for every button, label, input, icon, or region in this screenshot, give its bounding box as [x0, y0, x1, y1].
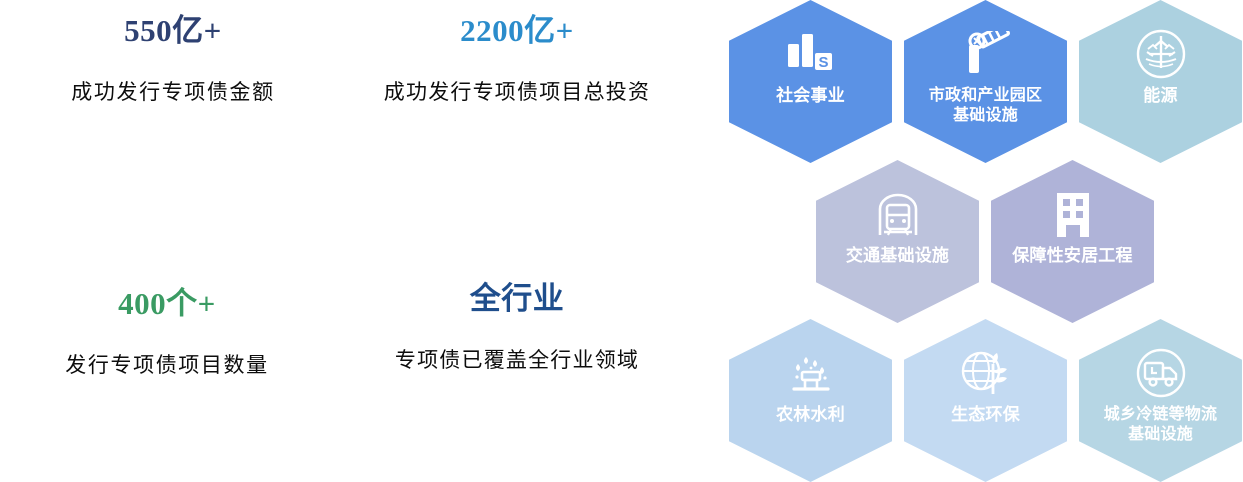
hexagon-municipal-industrial-park[interactable]: 市政和产业园区基础设施 [904, 0, 1067, 163]
statistics-panel: 550亿+ 成功发行专项债金额 2200亿+ 成功发行专项债项目总投资 400个… [0, 0, 710, 482]
svg-text:S: S [818, 54, 828, 71]
stat-label: 发行专项债项目数量 [2, 350, 332, 380]
hexagon-social-welfare[interactable]: S 社会事业 [729, 0, 892, 163]
stat-value: 400个+ [2, 285, 332, 324]
apartment-building-icon [1051, 186, 1095, 242]
stat-value: 2200亿+ [352, 12, 682, 51]
hexagon-affordable-housing[interactable]: 保障性安居工程 [991, 160, 1154, 323]
stat-label: 专项债已覆盖全行业领域 [352, 345, 682, 375]
bar-chart-dollar-icon: S [786, 26, 836, 82]
sector-hexagon-cluster: S 社会事业 市政和产业园区基础设施 [723, 0, 1243, 482]
hexagon-energy[interactable]: 能源 [1079, 0, 1242, 163]
hexagon-label: 城乡冷链等物流基础设施 [1097, 405, 1225, 444]
stat-card-project-count: 400个+ 发行专项债项目数量 [2, 285, 332, 380]
irrigation-sprinkler-icon [784, 345, 838, 401]
hexagon-label: 市政和产业园区基础设施 [922, 86, 1050, 125]
hexagon-label: 保障性安居工程 [1009, 246, 1137, 267]
globe-leaf-icon [959, 345, 1013, 401]
stat-label: 成功发行专项债金额 [8, 77, 338, 107]
hexagon-label: 能源 [1097, 86, 1225, 107]
hexagon-label: 社会事业 [747, 86, 875, 107]
hexagon-ecology-environment[interactable]: 生态环保 [904, 319, 1067, 482]
stat-label: 成功发行专项债项目总投资 [352, 77, 682, 107]
hexagon-label: 交通基础设施 [834, 246, 962, 267]
barrier-gate-icon [960, 26, 1012, 82]
hexagon-label: 农林水利 [747, 405, 875, 426]
stat-card-bond-amount: 550亿+ 成功发行专项债金额 [8, 12, 338, 107]
hexagon-label: 生态环保 [922, 405, 1050, 426]
train-icon [874, 186, 922, 242]
delivery-truck-circle-icon [1135, 345, 1187, 401]
hexagon-agriculture-water[interactable]: 农林水利 [729, 319, 892, 482]
hexagon-transport-infrastructure[interactable]: 交通基础设施 [816, 160, 979, 323]
stat-value: 550亿+ [8, 12, 338, 51]
power-tower-circle-icon [1135, 26, 1187, 82]
stat-card-total-investment: 2200亿+ 成功发行专项债项目总投资 [352, 12, 682, 107]
hexagon-cold-chain-logistics[interactable]: 城乡冷链等物流基础设施 [1079, 319, 1242, 482]
stat-card-industry-coverage: 全行业 专项债已覆盖全行业领域 [352, 280, 682, 375]
stat-value: 全行业 [352, 280, 682, 319]
